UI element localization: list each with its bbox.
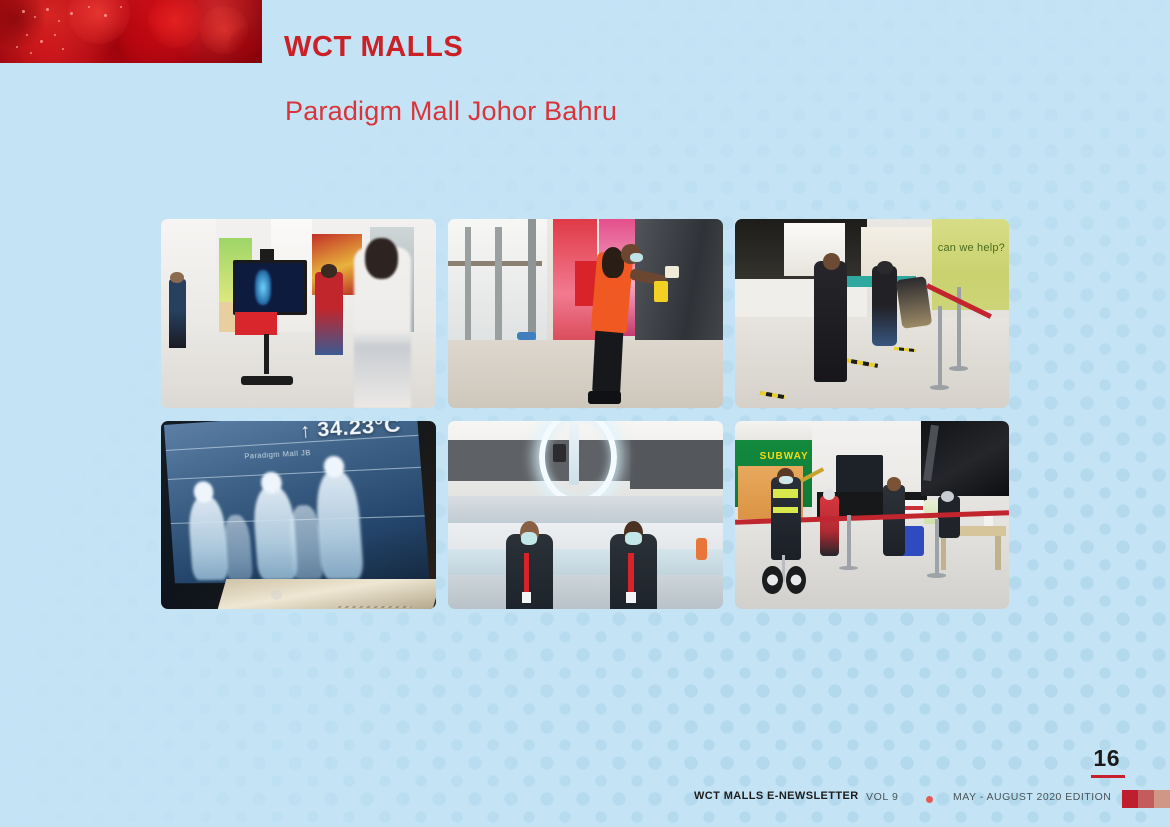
- figure-visitor: [820, 496, 839, 556]
- accent-swatch-2: [1138, 790, 1154, 808]
- spray-bottle: [654, 281, 668, 302]
- face-mask: [521, 532, 538, 545]
- newsletter-page: WCT MALLS Paradigm Mall Johor Bahru: [0, 0, 1170, 827]
- page-subtitle: Paradigm Mall Johor Bahru: [285, 96, 617, 127]
- red-bokeh-banner-icon: [0, 0, 262, 63]
- page-number: 16: [1093, 745, 1120, 772]
- thermal-temperature-value: 34.23°C: [316, 421, 401, 441]
- wall-graphic-text: can we help?: [938, 238, 1009, 255]
- page-number-underline: [1091, 775, 1125, 778]
- photo-thermal-camera-screen: Paradigm Mall JB 35.41 ↑ 34.23°C: [161, 421, 436, 609]
- bokeh-blob: [228, 26, 262, 63]
- page-footer: WCT MALLS E-NEWSLETTER VOL 9 MAY - AUGUS…: [0, 790, 1170, 812]
- thermal-temperature-reading: ↑ 34.23°C: [299, 421, 402, 443]
- figure-child: [315, 272, 343, 355]
- bokeh-blob: [18, 22, 68, 63]
- thermal-scanner-stand: [233, 249, 302, 385]
- lanyard: [628, 553, 634, 594]
- figure-visitor: [883, 485, 905, 556]
- accent-swatch-1: [1122, 790, 1138, 808]
- segway-vehicle: [762, 564, 806, 594]
- lanyard: [524, 553, 530, 594]
- laptop-logo: [271, 590, 282, 599]
- thermal-camera-display: Paradigm Mall JB 35.41 ↑ 34.23°C: [164, 421, 430, 583]
- photo-thermal-scanner-stand: [161, 219, 436, 408]
- photo-masked-staff-atrium: [448, 421, 723, 609]
- figure-queuing-person: [814, 261, 847, 382]
- page-title: WCT MALLS: [284, 31, 463, 64]
- photo-guard-segway-checkpoint: SUBWAY: [735, 421, 1009, 609]
- thermal-secondary-reading: 35.41: [264, 489, 282, 496]
- thermal-location-label: Paradigm Mall JB: [244, 450, 311, 461]
- footer-separator-dot-icon: [926, 796, 933, 803]
- photo-social-distancing-queue: can we help?: [735, 219, 1009, 408]
- figure-queuing-person: [872, 266, 897, 345]
- face-mask: [779, 476, 793, 484]
- wall-graphic-label: can we help?: [938, 242, 1005, 254]
- footer-brand-label: WCT MALLS E-NEWSLETTER: [694, 790, 859, 802]
- figure-guard: [169, 279, 186, 347]
- photo-gallery: can we help? Paradig: [161, 219, 1009, 609]
- footer-volume-label: VOL 9: [866, 791, 898, 803]
- footer-accent-bar: [1122, 790, 1170, 808]
- face-mask: [625, 532, 642, 545]
- accent-swatch-3: [1154, 790, 1170, 808]
- bokeh-blob: [118, 20, 162, 63]
- subway-sign-label: SUBWAY: [760, 451, 809, 462]
- thermal-arrow-icon: ↑: [299, 421, 312, 442]
- footer-edition-label: MAY - AUGUST 2020 EDITION: [953, 791, 1111, 803]
- photo-sanitising-glass-door: [448, 219, 723, 408]
